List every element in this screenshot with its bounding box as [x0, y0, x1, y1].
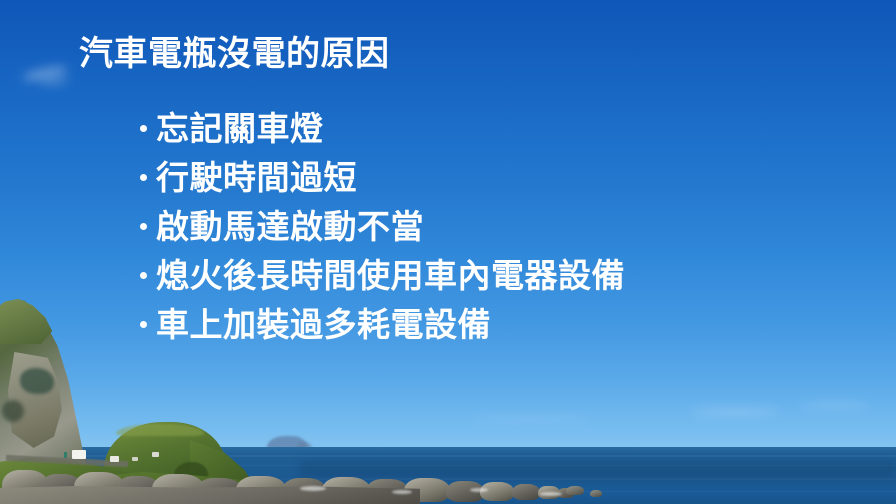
- bullet-item-label: 忘記關車燈: [156, 104, 324, 153]
- bullet-item-label: 啟動馬達啟動不當: [156, 202, 424, 251]
- slide-text-layer: 汽車電瓶沒電的原因 忘記關車燈 行駛時間過短 啟動馬達啟動不當 熄火後長時間使用…: [0, 0, 896, 504]
- bullet-dot-icon: [140, 223, 147, 230]
- bullet-dot-icon: [140, 125, 147, 132]
- bullet-item: 車上加裝過多耗電設備: [140, 300, 625, 349]
- bullet-dot-icon: [140, 174, 147, 181]
- bullet-list: 忘記關車燈 行駛時間過短 啟動馬達啟動不當 熄火後長時間使用車內電器設備 車上加…: [140, 104, 625, 349]
- bullet-dot-icon: [140, 321, 147, 328]
- bullet-item-label: 車上加裝過多耗電設備: [156, 300, 491, 349]
- presentation-slide: 汽車電瓶沒電的原因 忘記關車燈 行駛時間過短 啟動馬達啟動不當 熄火後長時間使用…: [0, 0, 896, 504]
- bullet-dot-icon: [140, 272, 147, 279]
- bullet-item-label: 熄火後長時間使用車內電器設備: [156, 251, 625, 300]
- bullet-item: 忘記關車燈: [140, 104, 625, 153]
- bullet-item: 熄火後長時間使用車內電器設備: [140, 251, 625, 300]
- slide-title: 汽車電瓶沒電的原因: [79, 33, 390, 75]
- bullet-item: 行駛時間過短: [140, 153, 625, 202]
- bullet-item: 啟動馬達啟動不當: [140, 202, 625, 251]
- bullet-item-label: 行駛時間過短: [156, 153, 357, 202]
